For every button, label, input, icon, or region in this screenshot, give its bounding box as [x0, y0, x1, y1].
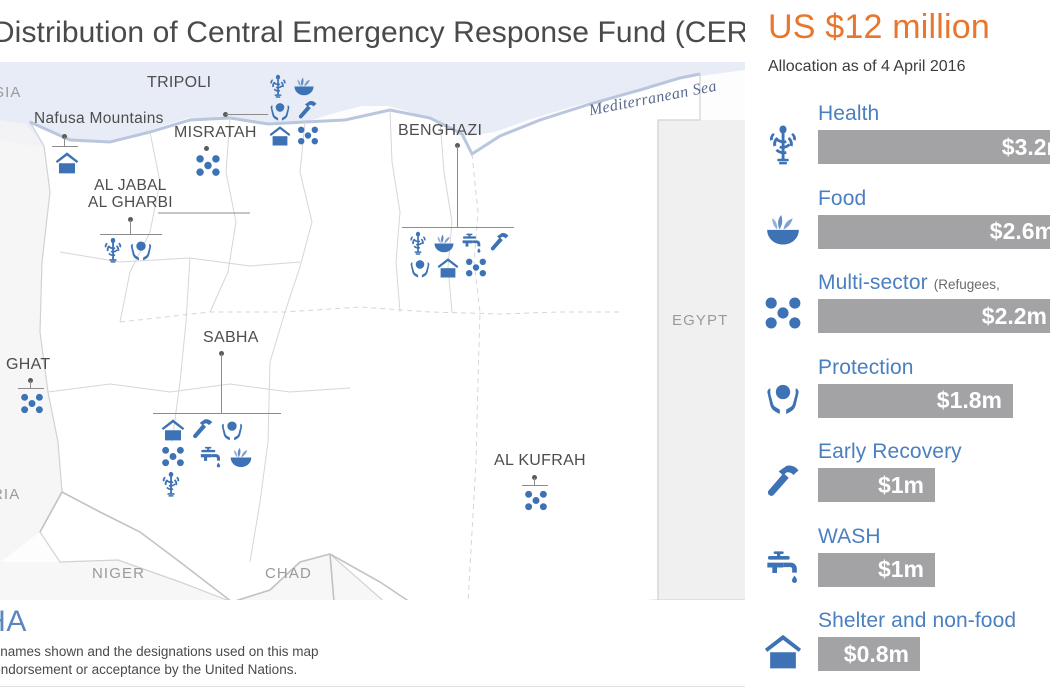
bar-track-protection: $1.8m: [818, 384, 1013, 418]
water-tap-icon: [460, 231, 484, 255]
map-disclaimer: laries and names shown and the designati…: [0, 643, 319, 679]
shelter-house-icon: [54, 150, 80, 175]
leader-line-benghazi: [457, 146, 458, 227]
leader-line-aljabal: [130, 220, 131, 234]
shelter-house-icon: [268, 124, 292, 147]
caduceus-icon: [268, 74, 288, 98]
protection-hands-icon: [128, 237, 154, 263]
bar-row-food[interactable]: Food $2.6m: [745, 181, 1050, 266]
leader-base-aljabal: [100, 234, 162, 235]
shelter-house-icon: [436, 256, 460, 280]
bar-label-text: Health: [818, 102, 879, 125]
icon-cluster-benghazi: [406, 231, 516, 281]
bar-value-health: $3.2m: [1002, 134, 1050, 161]
map-graphic: [0, 62, 745, 677]
allocation-total: US $12 million: [768, 8, 990, 47]
bar-track-multi-sector: $2.2m: [818, 299, 1050, 333]
ocha-logo: CHA: [0, 605, 27, 639]
icon-cluster-nafusa: [52, 150, 82, 176]
multi-sector-dots-icon: [296, 124, 320, 147]
food-bowl-icon: [292, 74, 316, 98]
bar-label-health: Health: [818, 102, 879, 126]
allocation-panel: US $12 million Allocation as of 4 April …: [745, 0, 1050, 700]
protection-hands-icon: [268, 99, 292, 123]
caduceus-icon: [160, 471, 182, 497]
bar-value-early-recovery: $1m: [878, 472, 924, 499]
bar-track-food: $2.6m: [818, 215, 1050, 249]
bar-fill-shelter: $0.8m: [818, 637, 920, 671]
bar-value-shelter: $0.8m: [844, 641, 909, 668]
bar-label-text: Protection: [818, 356, 914, 379]
shelter-house-icon: [160, 417, 186, 443]
infographic-root: a: Distribution of Central Emergency Res…: [0, 0, 1050, 700]
protection-hands-icon: [408, 256, 432, 280]
bar-track-shelter: $0.8m: [818, 637, 920, 671]
bar-row-early-recovery[interactable]: Early Recovery $1m: [745, 434, 1050, 519]
bar-row-health[interactable]: Health $3.2m: [745, 96, 1050, 181]
disclaimer-line-1: laries and names shown and the designati…: [0, 643, 319, 661]
disclaimer-line-2: ly official endorsement or acceptance by…: [0, 661, 319, 679]
bar-value-multi-sector: $2.2m: [982, 303, 1047, 330]
bar-label-text: Shelter and non-food: [818, 609, 1016, 632]
bar-value-food: $2.6m: [990, 218, 1050, 245]
leader-base-sabha: [153, 413, 281, 414]
protection-hands-icon: [219, 417, 245, 443]
bar-row-protection[interactable]: Protection $1.8m: [745, 350, 1050, 435]
food-bowl-icon: [228, 444, 254, 470]
bar-fill-health: $3.2m: [818, 130, 1050, 164]
multi-sector-dots-icon: [19, 391, 45, 416]
bar-label-early-recovery: Early Recovery: [818, 440, 962, 464]
bar-fill-wash: $1m: [818, 553, 935, 587]
water-tap-icon: [198, 444, 224, 470]
bar-fill-protection: $1.8m: [818, 384, 1013, 418]
food-bowl-icon: [757, 203, 809, 255]
bar-fill-early-recovery: $1m: [818, 468, 935, 502]
icon-cluster-tripoli: [266, 74, 342, 148]
bar-label-text: Multi-sector: [818, 271, 928, 294]
hammer-icon: [190, 417, 215, 443]
leader-base-benghazi: [402, 227, 514, 228]
bar-row-multi-sector[interactable]: Multi-sector(Refugees, $2.2m: [745, 265, 1050, 350]
leader-line-ghat: [30, 381, 31, 388]
hammer-icon: [296, 99, 319, 123]
bar-label-text: Early Recovery: [818, 440, 962, 463]
bar-row-wash[interactable]: WASH $1m: [745, 519, 1050, 604]
title-text: Distribution of Central Emergency Respon…: [0, 16, 745, 50]
bar-row-shelter[interactable]: Shelter and non-food $0.8m: [745, 603, 1050, 688]
hammer-icon: [488, 231, 511, 255]
caduceus-icon: [102, 237, 124, 263]
bar-track-early-recovery: $1m: [818, 468, 935, 502]
food-bowl-icon: [432, 231, 456, 255]
caduceus-icon: [757, 118, 809, 170]
bar-label-text: Food: [818, 187, 866, 210]
map-footer: CHA laries and names shown and the desig…: [0, 600, 745, 700]
bar-fill-multi-sector: $2.2m: [818, 299, 1050, 333]
bar-label-sub: (Refugees,: [934, 277, 1000, 292]
leader-line-alkufrah: [534, 478, 535, 485]
icon-cluster-sabha: [158, 417, 276, 498]
bar-fill-food: $2.6m: [818, 215, 1050, 249]
multi-sector-dots-icon: [464, 256, 488, 280]
bar-track-health: $3.2m: [818, 130, 1050, 164]
icon-cluster-misratah: [192, 152, 224, 180]
multi-sector-dots-icon: [194, 152, 222, 179]
bar-label-wash: WASH: [818, 525, 881, 549]
leader-line-tripoli: [226, 114, 268, 115]
city-dot-misratah: [204, 146, 209, 151]
allocation-subtitle: Allocation as of 4 April 2016: [768, 58, 965, 76]
multi-sector-dots-icon: [523, 488, 549, 513]
bar-label-text: WASH: [818, 525, 881, 548]
footer-divider: [0, 686, 745, 687]
bar-value-wash: $1m: [878, 556, 924, 583]
sector-bar-chart: Health $3.2m Food $2.6m: [745, 96, 1050, 688]
bar-label-protection: Protection: [818, 356, 914, 380]
bar-track-wash: $1m: [818, 553, 935, 587]
icon-cluster-alkufrah: [521, 488, 551, 514]
icon-cluster-ghat: [17, 391, 47, 417]
bar-value-protection: $1.8m: [937, 387, 1002, 414]
leader-line-nafusa: [64, 137, 65, 146]
multi-sector-dots-icon: [160, 444, 186, 470]
icon-cluster-aljabal: [100, 237, 162, 264]
bar-label-shelter: Shelter and non-food: [818, 609, 1016, 633]
map-panel[interactable]: Mediterranean Sea SIA RIA NIGER CHAD EGY…: [0, 62, 745, 677]
bar-label-food: Food: [818, 187, 866, 211]
bar-label-multi-sector: Multi-sector(Refugees,: [818, 271, 1000, 295]
hammer-icon: [757, 456, 809, 508]
page-title: a: Distribution of Central Emergency Res…: [0, 12, 745, 50]
leader-base-alkufrah: [522, 485, 548, 486]
leader-line-sabha: [221, 354, 222, 413]
shelter-house-icon: [757, 625, 809, 677]
protection-hands-icon: [757, 372, 809, 424]
page-header: a: Distribution of Central Emergency Res…: [0, 0, 745, 62]
water-tap-icon: [757, 541, 809, 593]
caduceus-icon: [408, 231, 428, 255]
leader-base-nafusa: [52, 146, 78, 147]
multi-sector-dots-icon: [757, 287, 809, 339]
leader-base-ghat: [18, 388, 44, 389]
